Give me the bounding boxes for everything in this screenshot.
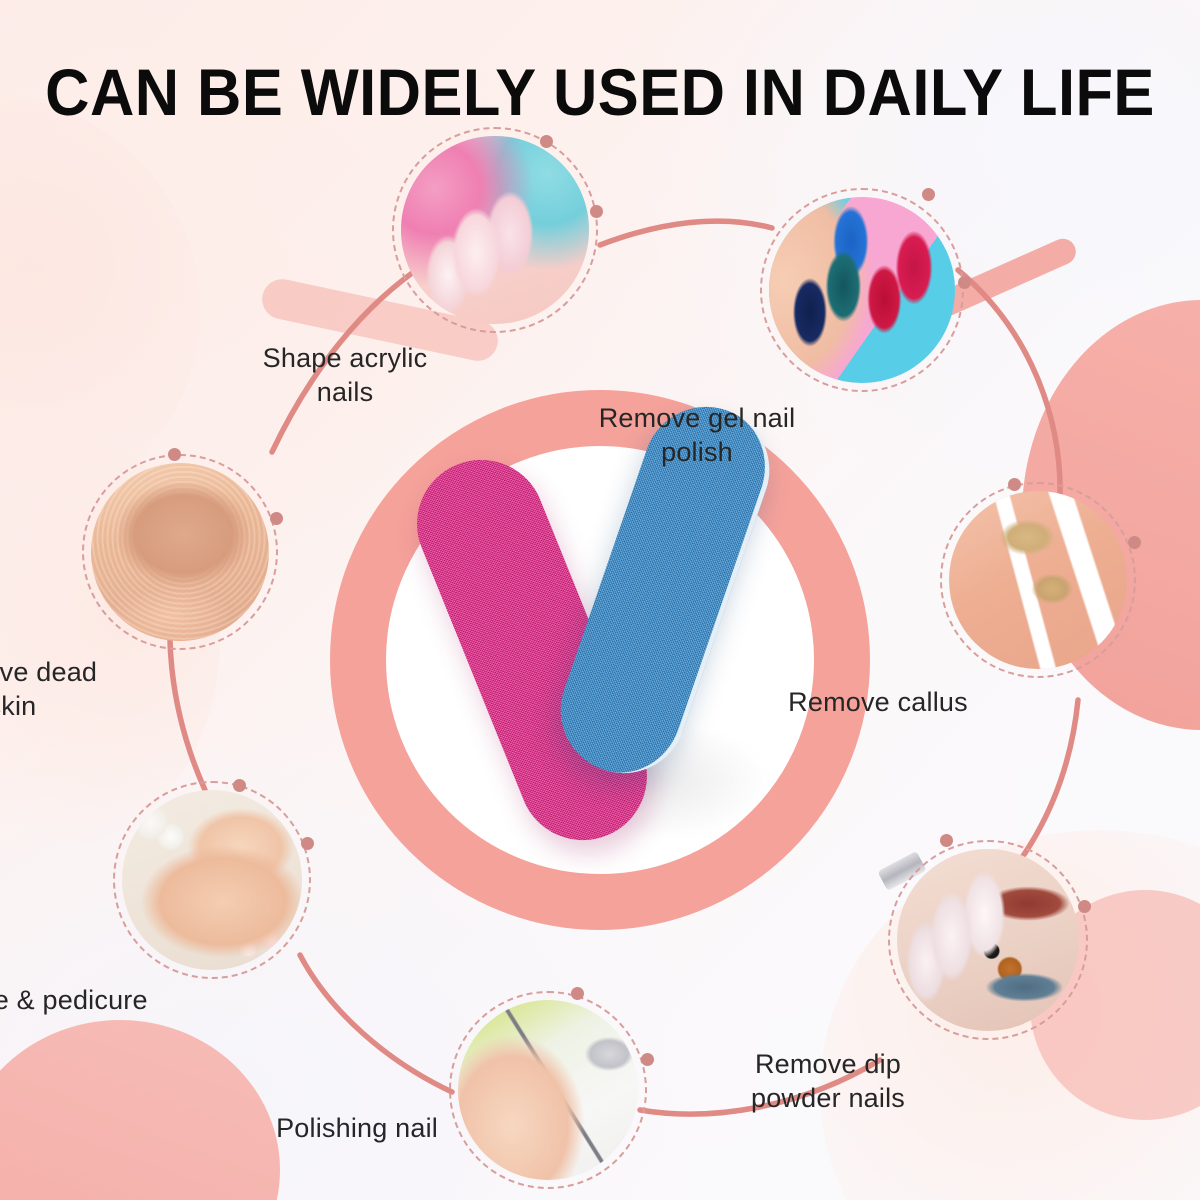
spa-manicure-pedicure-photo (122, 790, 302, 970)
callus-foot-photo (949, 491, 1127, 669)
accent-dot (590, 205, 603, 218)
accent-dot (958, 276, 971, 289)
manicure-and-pedicure-circle[interactable] (113, 781, 311, 979)
polishing-nail-photo (458, 1000, 638, 1180)
remove-dip-powder-nails-circle[interactable] (888, 840, 1088, 1040)
center-product-stage (330, 390, 870, 930)
arc-gel-to-callus (958, 270, 1060, 498)
dead-skin-heel-photo (91, 463, 269, 641)
arc-polishing-to-manicure (300, 955, 452, 1092)
accent-dot (233, 779, 246, 792)
remove-callus-circle[interactable] (940, 482, 1136, 678)
acrylic-nails-photo (401, 136, 589, 324)
arc-shape-to-gel (600, 221, 772, 245)
remove-dip-powder-nails-label: Remove dip powder nails (668, 1048, 988, 1116)
remove-dead-skin-circle[interactable] (82, 454, 278, 650)
shape-acrylic-nails-circle[interactable] (392, 127, 598, 333)
accent-dot (940, 834, 953, 847)
accent-dot (540, 135, 553, 148)
gel-polish-nails-photo (769, 197, 955, 383)
decorative-petal-bottom-left (0, 1020, 280, 1200)
accent-dot (1128, 536, 1141, 549)
infographic-poster: CAN BE WIDELY USED IN DAILY LIFE Shape a (0, 0, 1200, 1200)
shape-acrylic-nails-label: Shape acrylic nails (195, 342, 495, 410)
accent-dot (641, 1053, 654, 1066)
dip-powder-nails-photo (897, 849, 1079, 1031)
accent-dot (1078, 900, 1091, 913)
accent-dot (270, 512, 283, 525)
page-title: CAN BE WIDELY USED IN DAILY LIFE (42, 58, 1158, 127)
polishing-nail-circle[interactable] (449, 991, 647, 1189)
accent-dot (1008, 478, 1021, 491)
accent-dot (168, 448, 181, 461)
polishing-nail-label: Polishing nail (118, 1112, 438, 1146)
remove-gel-nail-polish-label: Remove gel nail polish (532, 402, 862, 470)
remove-dead-skin-label: Remove dead skin (0, 656, 162, 724)
manicure-and-pedicure-label: Manicure & pedicure (0, 984, 212, 1018)
accent-dot (301, 837, 314, 850)
remove-gel-nail-polish-circle[interactable] (760, 188, 964, 392)
accent-dot (571, 987, 584, 1000)
accent-dot (922, 188, 935, 201)
remove-callus-label: Remove callus (718, 686, 1038, 720)
